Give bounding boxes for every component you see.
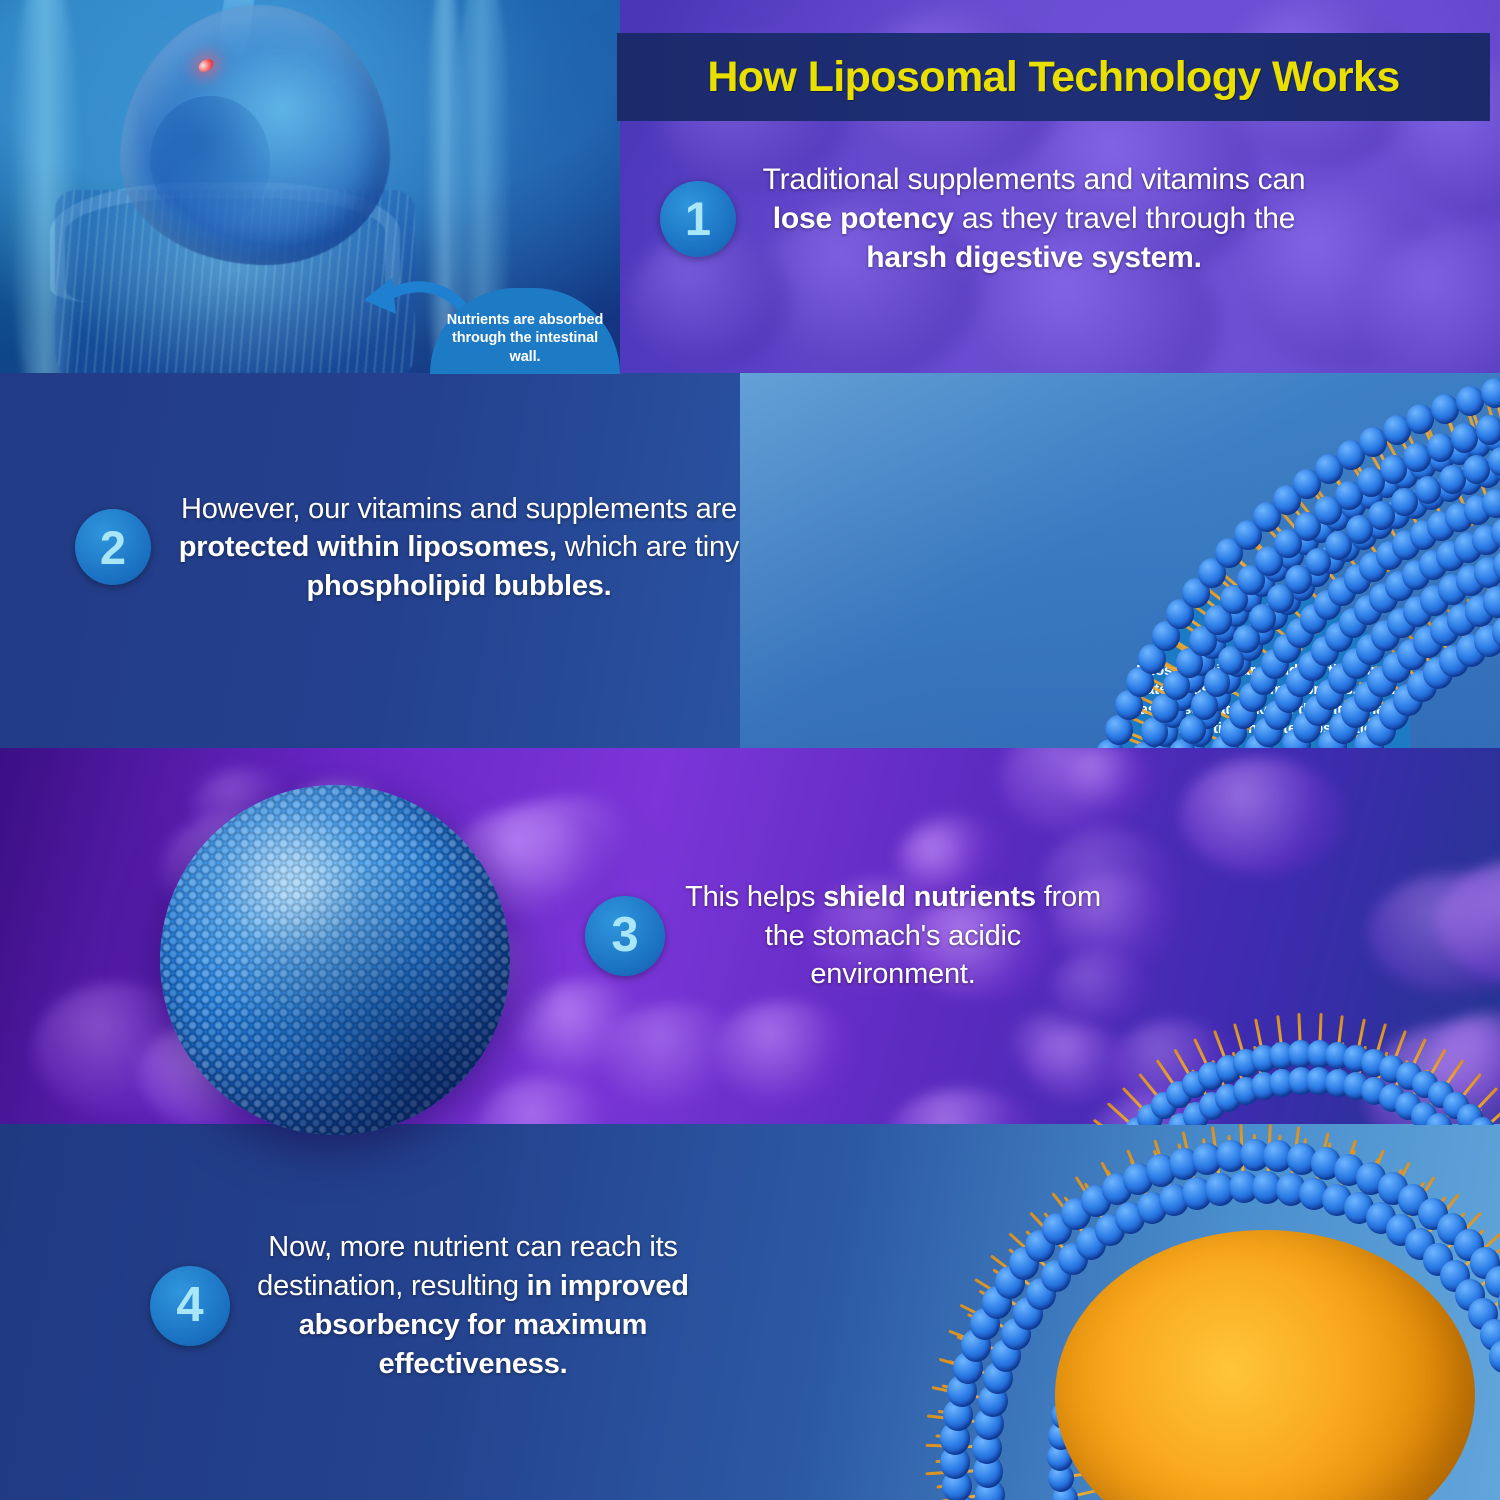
step-1-block: 1 Traditional supplements and vitamins c… [660, 160, 1330, 277]
step-4-text: Now, more nutrient can reach its destina… [248, 1228, 698, 1383]
phospholipid-head [1439, 465, 1466, 494]
liposome-arc-top [980, 985, 1500, 1125]
phospholipid-bilayer-illustration [740, 373, 1500, 748]
phospholipid-head [1451, 423, 1478, 452]
phospholipid-head [1482, 489, 1500, 519]
phospholipid-head [1391, 488, 1418, 517]
step-3-number-badge: 3 [585, 896, 665, 976]
phospholipid-head [1431, 394, 1459, 424]
step-2-text: However, our vitamins and supplements ar… [169, 490, 749, 605]
step-4-number-badge: 4 [150, 1266, 230, 1346]
step-3-number: 3 [611, 911, 638, 960]
step-4-number: 4 [176, 1281, 203, 1330]
step-3-block: 3 This helps shield nutrients from the s… [585, 878, 1125, 994]
callout-intestinal-wall-text: Nutrients are absorbed through the intes… [440, 311, 610, 366]
sphere-shading [160, 785, 510, 1135]
step-1-number: 1 [685, 195, 711, 242]
step-1-number-badge: 1 [660, 181, 736, 257]
phospholipid-head [1476, 415, 1500, 444]
step-2-number-badge: 2 [75, 509, 151, 585]
step-3-text: This helps shield nutrients from the sto… [683, 878, 1103, 994]
liposome-sphere-illustration [160, 785, 510, 1135]
step-2-number: 2 [100, 524, 126, 571]
title-banner: How Liposomal Technology Works [617, 33, 1490, 121]
step-4-block: 4 Now, more nutrient can reach its desti… [150, 1228, 720, 1383]
step-2-block: 2 However, our vitamins and supplements … [75, 490, 775, 605]
stomach-inner-shading [150, 96, 270, 226]
infographic-root: How Liposomal Technology Works 1 Traditi… [0, 0, 1500, 1500]
phospholipid-head [1456, 386, 1484, 416]
red-blood-cell [1057, 748, 1152, 805]
step-1-text: Traditional supplements and vitamins can… [754, 160, 1314, 277]
page-title: How Liposomal Technology Works [707, 53, 1399, 102]
red-blood-cell [714, 1001, 858, 1103]
red-blood-cell [1180, 758, 1343, 873]
phospholipid-head [1481, 378, 1500, 408]
